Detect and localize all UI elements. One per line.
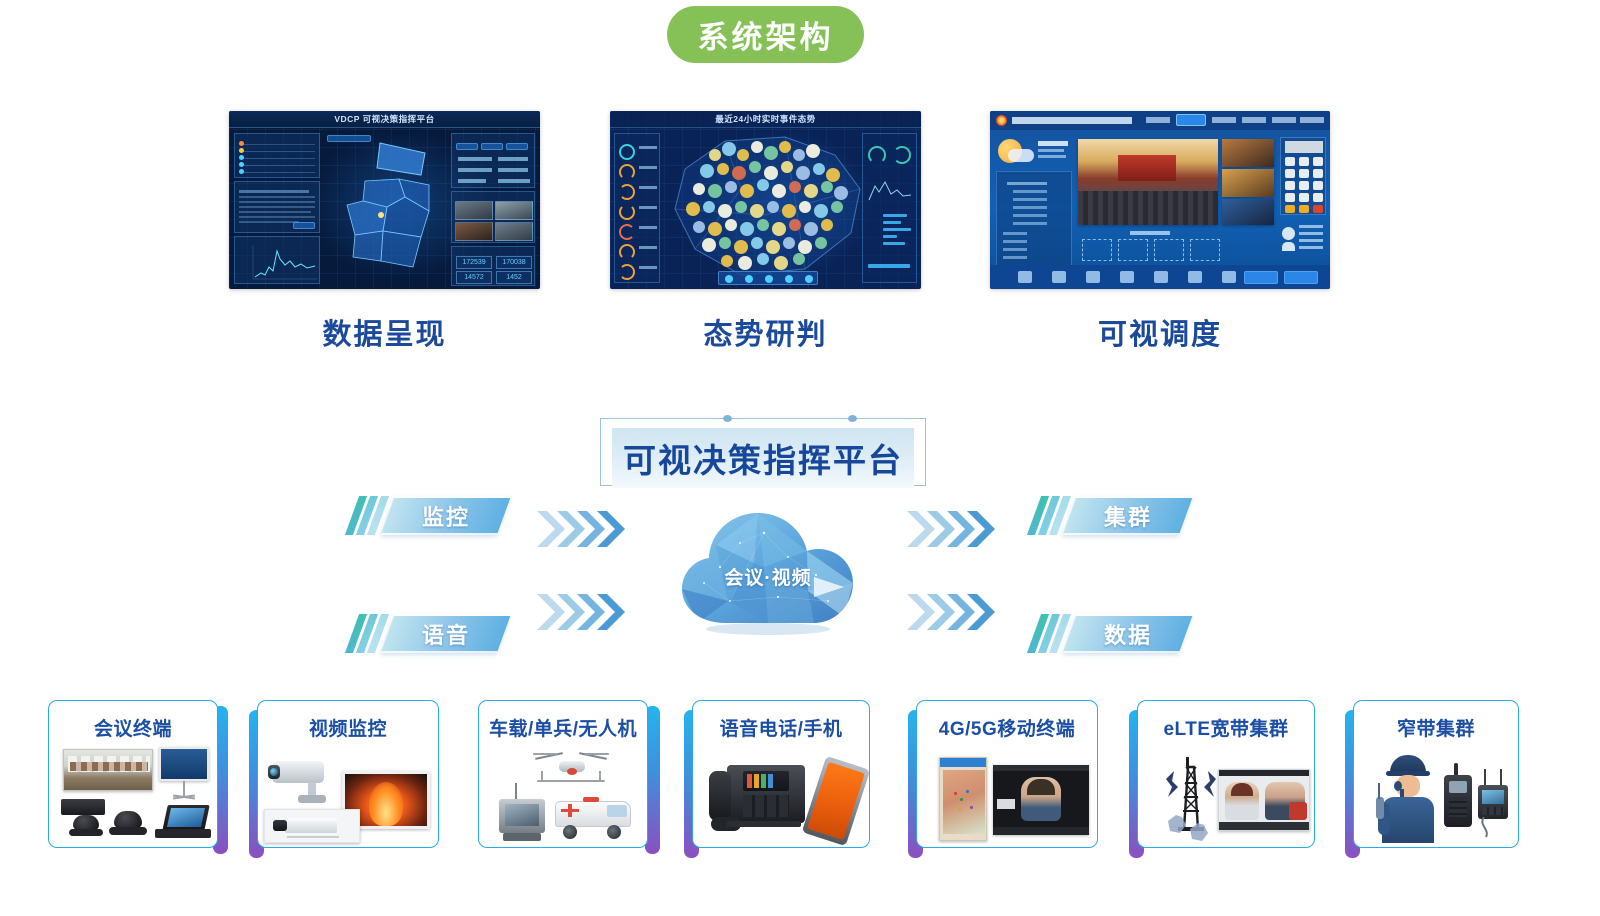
platform-dot-right [848, 415, 857, 422]
end-meeting-button[interactable] [1244, 271, 1278, 284]
handheld-radio-icon [1442, 763, 1476, 831]
map-app-screenshot [939, 757, 987, 841]
platform-title-bg: 可视决策指挥平台 [612, 428, 914, 488]
device-card-art [923, 747, 1091, 839]
nav-item [1242, 117, 1266, 123]
map-toolbar [718, 271, 818, 285]
device-card-4g5g-mobile-terminal[interactable]: 4G/5G移动终端 [916, 700, 1098, 848]
device-card-title: 视频监控 [258, 714, 438, 741]
cloud-label: 会议·视频 [668, 563, 868, 590]
device-card-title: 窄带集群 [1354, 714, 1518, 741]
action-slot[interactable] [1082, 239, 1112, 261]
stat-card: 1452 [496, 271, 532, 284]
action-slot[interactable] [1190, 239, 1220, 261]
platform-title-block: 可视决策指挥平台 [600, 418, 926, 486]
device-card-art [485, 747, 641, 839]
nav-item-active[interactable] [1176, 114, 1206, 126]
stat-card: 172539 [456, 256, 492, 269]
dispatch-background [990, 111, 1330, 289]
rugged-smartphone-icon [807, 757, 869, 845]
nav-item [1300, 117, 1324, 123]
panel-project-stats: 172539 170038 14572 1452 [451, 246, 535, 286]
flow-banner-label: 语音 [388, 614, 504, 653]
showcase-screenshot-situation-analysis: 最近24小时实时事件态势 [610, 111, 921, 289]
panel-event-list [234, 133, 320, 178]
video-thumbnail[interactable] [1222, 199, 1274, 225]
device-card-title: eLTE宽带集群 [1138, 714, 1314, 741]
action-slot[interactable] [1118, 239, 1148, 261]
device-card-art [699, 747, 863, 839]
showcase-caption-situation-analysis: 态势研判 [610, 311, 921, 353]
platform-title-text: 可视决策指挥平台 [623, 434, 903, 482]
device-card-voice-phone-mobile[interactable]: 语音电话/手机 [692, 700, 870, 848]
codec-box [61, 799, 105, 815]
device-card-elte-broadband-cluster[interactable]: eLTE宽带集群 [1137, 700, 1315, 848]
camera-feed [455, 222, 493, 241]
flow-banner-label: 集群 [1070, 496, 1186, 535]
footer-button[interactable] [1188, 271, 1202, 283]
display-screen [159, 747, 209, 781]
action-slot[interactable] [1154, 239, 1184, 261]
conference-room-photo [63, 749, 153, 791]
camera-feed [455, 201, 493, 220]
bullet-camera-icon [272, 757, 348, 809]
screen-stand [173, 781, 195, 801]
camera-feed [495, 222, 533, 241]
flow-arrows-cluster [905, 505, 1000, 553]
stat-card: 14572 [456, 271, 492, 284]
cell-tower-icon [1154, 753, 1226, 843]
footer-button[interactable] [1222, 271, 1236, 283]
portable-terminal-icon [1476, 769, 1514, 839]
device-card-vehicle-soldier-drone[interactable]: 车载/单兵/无人机 [478, 700, 648, 848]
device-card-video-surveillance[interactable]: 视频监控 [257, 700, 439, 848]
emblem-icon [996, 115, 1007, 126]
panel-right-rail [862, 133, 917, 283]
flow-arrows-monitoring [535, 505, 630, 553]
desk-phone-icon [709, 763, 809, 839]
worker-with-radio-icon [1376, 753, 1442, 845]
panel-trend-chart [234, 236, 320, 284]
trend-line-chart [235, 237, 321, 285]
portable-station-icon [493, 783, 551, 843]
device-card-title: 车载/单兵/无人机 [479, 714, 647, 741]
broadband-video-screenshot [1218, 769, 1310, 831]
contact-card [1280, 221, 1326, 259]
nav-item [1212, 117, 1236, 123]
device-card-art [1144, 747, 1308, 839]
device-card-title: 语音电话/手机 [693, 714, 869, 741]
flow-banner-label: 监控 [388, 496, 504, 535]
nav-item [1146, 117, 1170, 123]
panel-resources [451, 133, 535, 188]
video-call-screenshot [993, 765, 1089, 835]
ptz-camera [69, 815, 103, 837]
device-card-title: 会议终端 [49, 714, 217, 741]
mini-area-chart [867, 176, 914, 206]
device-card-conference-terminal[interactable]: 会议终端 [48, 700, 218, 848]
action-slots-label [1130, 231, 1170, 235]
video-thumbnail[interactable] [1222, 139, 1274, 167]
flow-banner-data: 数据 [1032, 614, 1182, 653]
weather-widget [998, 137, 1070, 167]
ambulance-icon [551, 795, 639, 843]
event-bubbles [655, 129, 880, 289]
cloud-node: 会议·视频 [668, 505, 868, 635]
bubblemap-title: 最近24小时实时事件态势 [610, 113, 921, 125]
page-title-text: 系统架构 [698, 12, 834, 57]
dialpad[interactable] [1280, 137, 1326, 215]
drone-icon [533, 751, 609, 787]
stat-card: 170038 [496, 256, 532, 269]
footer-button[interactable] [1086, 271, 1100, 283]
nav-item [1272, 117, 1296, 123]
showcase-screenshot-visual-dispatch [990, 111, 1330, 289]
flow-arrows-data [905, 588, 1000, 636]
showcase-caption-visual-dispatch: 可视调度 [990, 311, 1330, 353]
device-card-art [55, 747, 211, 839]
footer-button[interactable] [1018, 271, 1032, 283]
panel-cameras [451, 191, 535, 243]
dashboard-title: VDCP 可视决策指挥平台 [229, 113, 540, 125]
footer-button[interactable] [1052, 271, 1066, 283]
showcase-screenshot-data-presentation: VDCP 可视决策指挥平台 [229, 111, 540, 289]
video-phone [155, 805, 211, 839]
main-video-feed [1078, 139, 1218, 225]
footer-button[interactable] [1120, 271, 1134, 283]
region-map [325, 135, 445, 285]
bubblemap-background: 最近24小时实时事件态势 [610, 111, 921, 289]
device-card-title: 4G/5G移动终端 [917, 714, 1097, 741]
panel-analysis [234, 181, 320, 233]
device-card-art [1360, 747, 1512, 839]
page-title-badge: 系统架构 [667, 6, 864, 63]
infographic-root: 系统架构 VDCP 可视决策指挥平台 [0, 0, 1600, 916]
flow-banner-cluster: 集群 [1032, 496, 1182, 535]
box-camera-photo [264, 809, 360, 843]
footer-button[interactable] [1154, 271, 1168, 283]
flow-arrows-voice [535, 588, 630, 636]
dispatch-title [1012, 117, 1132, 124]
flow-banner-label: 数据 [1070, 614, 1186, 653]
showcase-caption-data-presentation: 数据呈现 [229, 311, 540, 353]
device-card-narrowband-cluster[interactable]: 窄带集群 [1353, 700, 1519, 848]
platform-dot-left [723, 415, 732, 422]
camera-feed [495, 201, 533, 220]
panel-org-tree [996, 171, 1072, 271]
panel-gauge-rail [614, 133, 660, 283]
flow-banner-monitoring: 监控 [350, 496, 500, 535]
start-meeting-button[interactable] [1284, 271, 1318, 284]
flow-banner-voice: 语音 [350, 614, 500, 653]
video-thumbnail[interactable] [1222, 169, 1274, 197]
dashboard-background: VDCP 可视决策指挥平台 [229, 111, 540, 289]
device-card-art [264, 747, 432, 839]
ptz-camera [109, 811, 147, 837]
map-layer-toggle [327, 135, 371, 142]
